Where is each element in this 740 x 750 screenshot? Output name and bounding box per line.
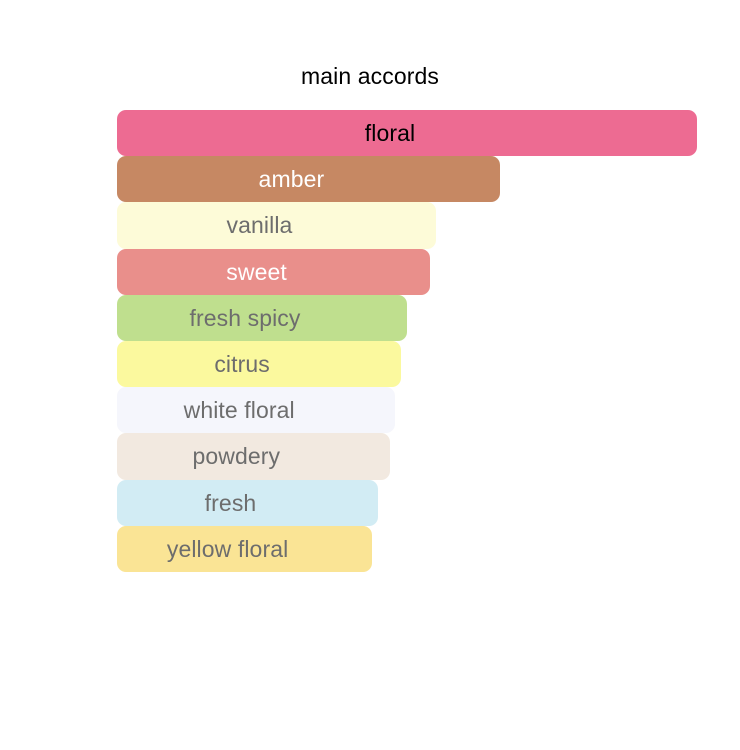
bar-row[interactable]: floral xyxy=(117,110,697,156)
bar-powdery[interactable]: powdery xyxy=(117,433,390,479)
bar-label: fresh xyxy=(205,490,291,516)
bar-row[interactable]: citrus xyxy=(117,341,697,387)
bar-citrus[interactable]: citrus xyxy=(117,341,401,387)
bar-floral[interactable]: floral xyxy=(117,110,697,156)
bar-row[interactable]: yellow floral xyxy=(117,526,697,572)
bar-fresh-spicy[interactable]: fresh spicy xyxy=(117,295,407,341)
bar-label: fresh spicy xyxy=(189,305,334,331)
bar-white-floral[interactable]: white floral xyxy=(117,387,395,433)
bar-row[interactable]: powdery xyxy=(117,433,697,479)
bar-label: vanilla xyxy=(227,212,327,238)
chart-title: main accords xyxy=(0,62,740,90)
bar-label: citrus xyxy=(214,351,304,377)
bar-row[interactable]: fresh spicy xyxy=(117,295,697,341)
bar-row[interactable]: vanilla xyxy=(117,202,697,248)
bar-fresh[interactable]: fresh xyxy=(117,480,378,526)
bar-label: white floral xyxy=(184,397,329,423)
bar-label: floral xyxy=(365,120,449,146)
bar-vanilla[interactable]: vanilla xyxy=(117,202,436,248)
bar-row[interactable]: sweet xyxy=(117,249,697,295)
bar-label: yellow floral xyxy=(167,536,322,562)
bar-row[interactable]: fresh xyxy=(117,480,697,526)
bar-amber[interactable]: amber xyxy=(117,156,500,202)
bar-label: powdery xyxy=(192,443,314,469)
main-accords-chart: main accords floralambervanillasweetfres… xyxy=(0,0,740,750)
bar-list: floralambervanillasweetfresh spicycitrus… xyxy=(117,110,697,572)
bar-label: sweet xyxy=(226,259,321,285)
bar-row[interactable]: amber xyxy=(117,156,697,202)
bar-sweet[interactable]: sweet xyxy=(117,249,430,295)
bar-label: amber xyxy=(259,166,359,192)
bar-yellow-floral[interactable]: yellow floral xyxy=(117,526,372,572)
bar-row[interactable]: white floral xyxy=(117,387,697,433)
